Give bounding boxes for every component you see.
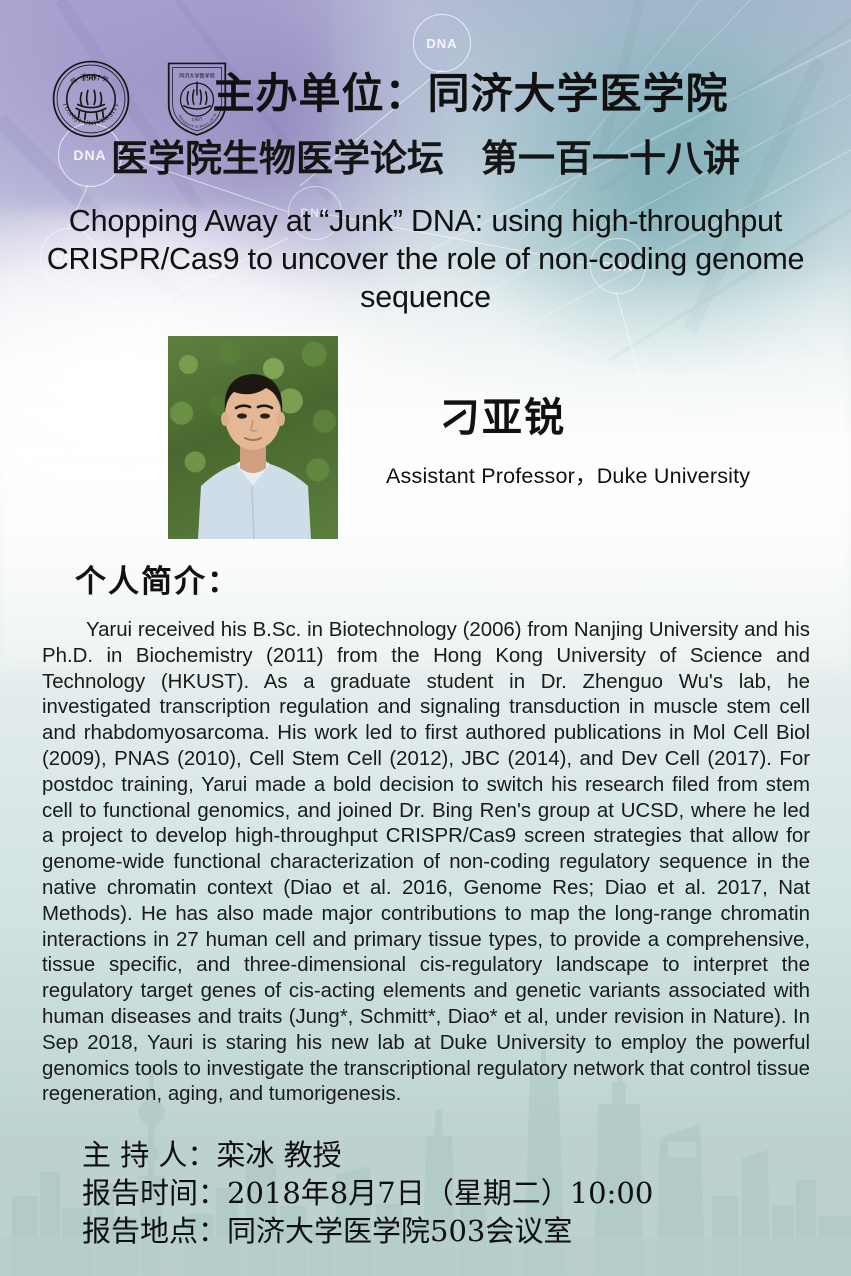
bio-body: Yarui received his B.Sc. in Biotechnolog… <box>42 618 810 1108</box>
host-line: 主 持 人：栾冰 教授 <box>82 1136 653 1174</box>
speaker-portrait <box>168 336 338 539</box>
speaker-name: 刁亚锐 <box>440 385 566 443</box>
dna-bubble: DNA <box>413 14 471 72</box>
speaker-photo <box>168 336 338 539</box>
svg-text:1907: 1907 <box>192 118 203 123</box>
event-details: 主 持 人：栾冰 教授 报告时间：2018年8月7日（星期二）10:00 报告地… <box>82 1136 653 1250</box>
speaker-affiliation: Assistant Professor，Duke University <box>386 459 750 490</box>
seminar-poster: DNA DNA DNA DNA DNA DNA DNA <box>0 0 851 1276</box>
forum-series-line: 医学院生物医学论坛 第一百一十八讲 <box>0 139 851 180</box>
dna-bubble: DNA <box>618 388 670 440</box>
bio-heading: 个人简介： <box>75 556 240 601</box>
time-line: 报告时间：2018年8月7日（星期二）10:00 <box>82 1174 653 1212</box>
place-line: 报告地点：同济大学医学院503会议室 <box>82 1212 653 1250</box>
organizer-line: 主办单位：同济大学医学院 <box>0 71 851 117</box>
talk-title: Chopping Away at “Junk” DNA: using high-… <box>38 202 813 316</box>
